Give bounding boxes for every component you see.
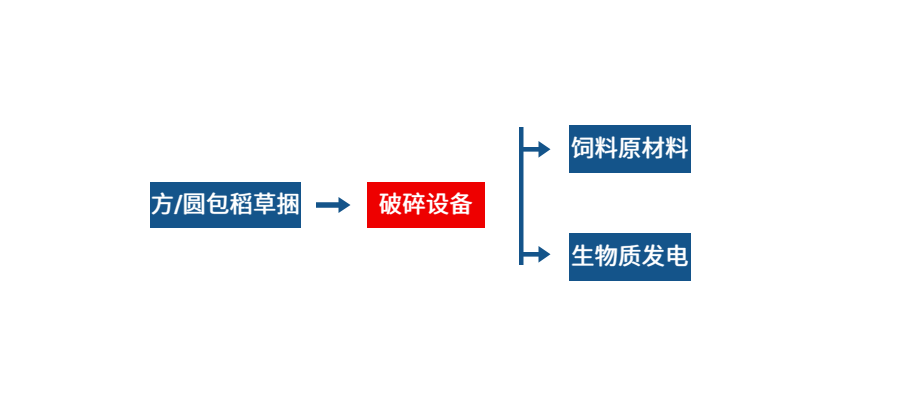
node-biomass-power-generation-label: 生物质发电 [571,246,689,269]
node-source-material-label: 方/圆包稻草捆 [151,194,300,217]
node-biomass-power-generation[interactable]: 生物质发电 [569,233,691,281]
arrow-source-to-process-icon [316,192,352,218]
node-source-material[interactable]: 方/圆包稻草捆 [150,182,301,228]
node-feed-raw-material[interactable]: 饲料原材料 [569,125,691,173]
node-crushing-equipment-label: 破碎设备 [379,194,473,217]
flow-diagram: 方/圆包稻草捆 破碎设备 饲料原材料 生物质发电 [0,0,900,411]
node-crushing-equipment[interactable]: 破碎设备 [367,182,485,228]
branch-split-connector-icon [512,118,572,278]
node-feed-raw-material-label: 饲料原材料 [571,138,689,161]
